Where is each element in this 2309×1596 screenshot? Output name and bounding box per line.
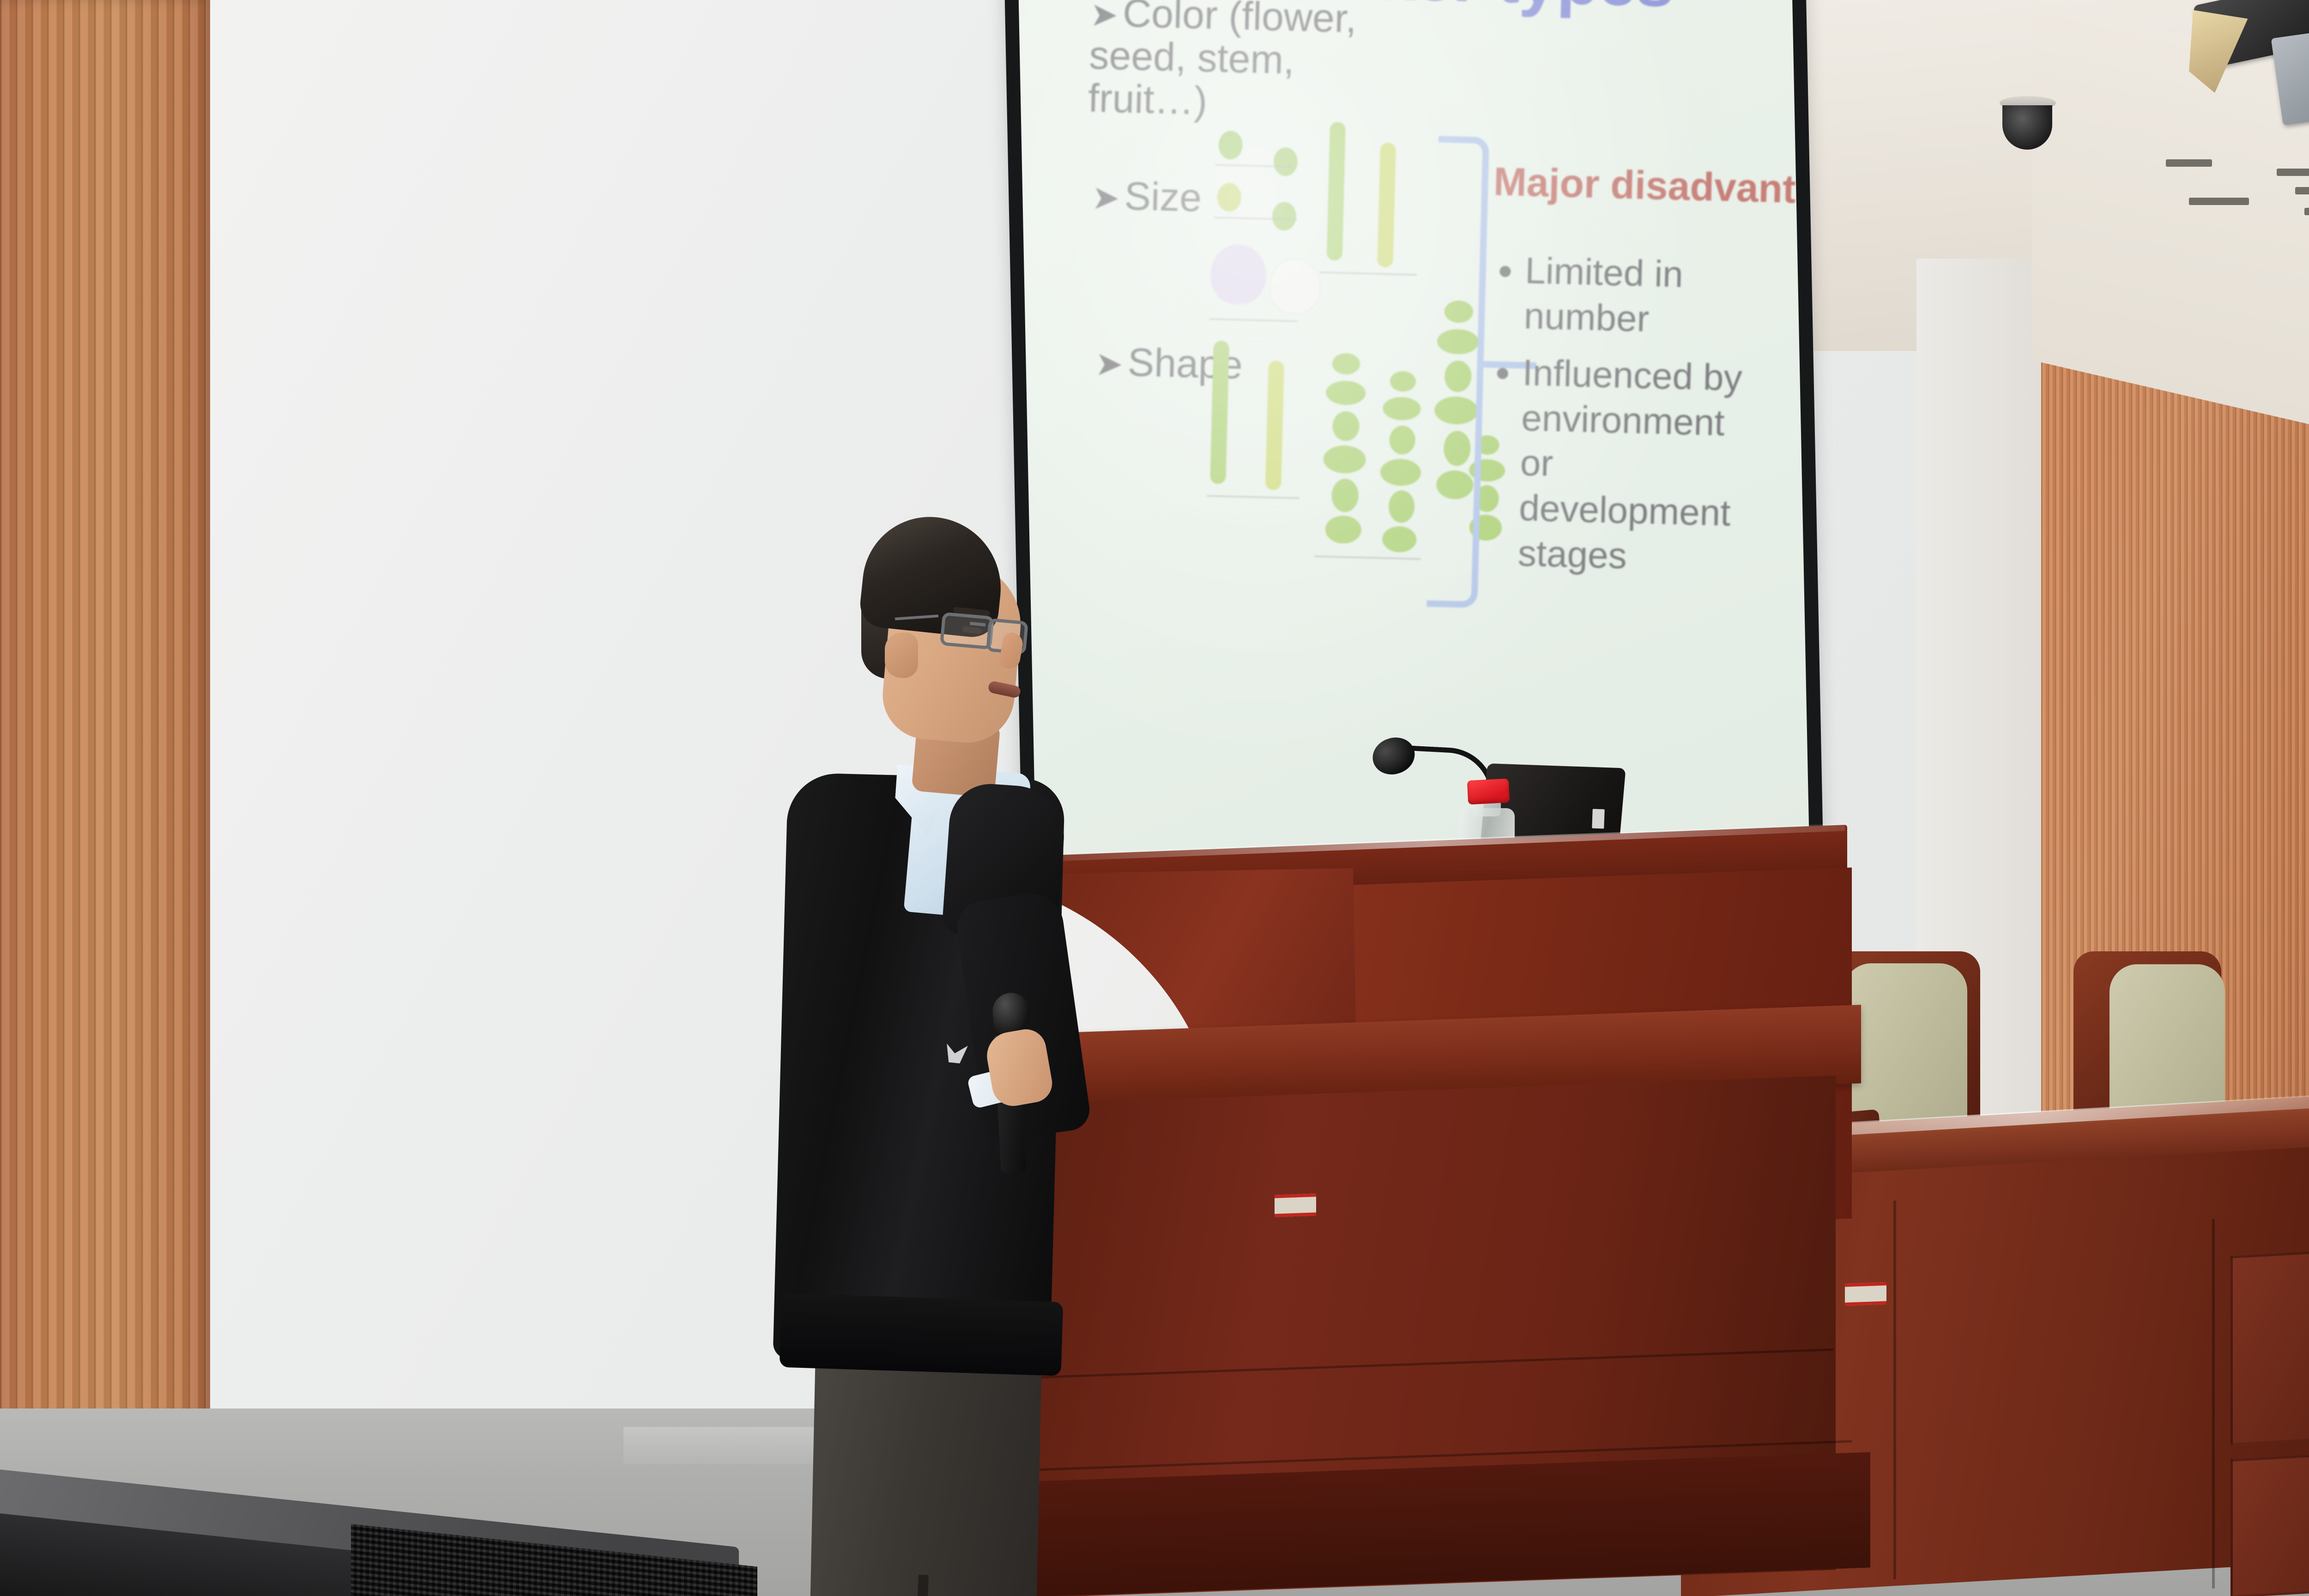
projection-screen-surface: markers arker types ➤Color (flower, seed… [1018, 0, 1809, 868]
flower-white-icon [1269, 258, 1321, 315]
wall-panel-left [0, 0, 210, 1492]
seed-yellow-icon [1217, 183, 1242, 212]
photo-scene: markers arker types ➤Color (flower, seed… [0, 0, 2309, 1596]
presenter-trousers [801, 1342, 1042, 1596]
recessed-slot-light-icon-2 [2304, 208, 2309, 215]
slide-disadvantage-item: Limited in number [1523, 248, 1766, 344]
presenter-ear [885, 633, 918, 678]
flower-purple-icon [1210, 243, 1267, 305]
slide-disadvantages-heading: Major disadvantages: [1493, 159, 1789, 212]
pod-green-icon [1210, 341, 1229, 484]
water-bottle-cap [1467, 779, 1510, 805]
presenter-jacket-hem [780, 1293, 1064, 1376]
recessed-slot-light-icon [2189, 198, 2249, 205]
table-asset-tag [1845, 1282, 1886, 1306]
slide-disadvantage-item-2: Influenced by environment or development… [1517, 350, 1763, 581]
seed-green-icon [1218, 131, 1243, 160]
arrow-bullet-icon-3: ➤ [1095, 345, 1124, 383]
head-table-cabinet-door [2230, 1248, 2309, 1445]
presentation-slide: markers arker types ➤Color (flower, seed… [1018, 0, 1809, 868]
head-table-seam [1893, 1201, 1896, 1579]
head-table-seam-2 [2212, 1219, 2215, 1589]
arrow-bullet-icon-2: ➤ [1091, 179, 1120, 217]
arrow-bullet-icon: ➤ [1090, 0, 1118, 34]
plant-tall-icon-2 [1373, 371, 1433, 557]
recessed-slot-light-icon-4 [2277, 169, 2309, 176]
pod-inflated-icon [1327, 122, 1346, 261]
recessed-slot-light-icon-5 [2295, 187, 2309, 194]
plant-tall-icon [1315, 352, 1380, 548]
recessed-slot-light-icon-3 [2166, 159, 2212, 167]
slide-bullet-label: Color (flower, seed, stem, fruit…) [1088, 0, 1357, 123]
pod-constricted-icon [1377, 142, 1396, 267]
seed-green-icon-3 [1272, 202, 1297, 231]
presenter [771, 517, 1113, 1596]
slide-bullet-label-2: Size [1124, 174, 1203, 220]
seed-green-icon-2 [1273, 147, 1298, 176]
pod-yellow-icon [1265, 361, 1284, 490]
podium-asset-tag [1275, 1193, 1316, 1217]
head-table-cabinet-door-2 [2230, 1451, 2309, 1596]
laptop-badge-icon [1592, 809, 1604, 829]
slide-disadvantages-list: Limited in number Influenced by environm… [1499, 248, 1765, 593]
glasses-lens-icon [940, 612, 994, 649]
slide-bullet-color: ➤Color (flower, seed, stem, fruit…) [1088, 0, 1414, 128]
